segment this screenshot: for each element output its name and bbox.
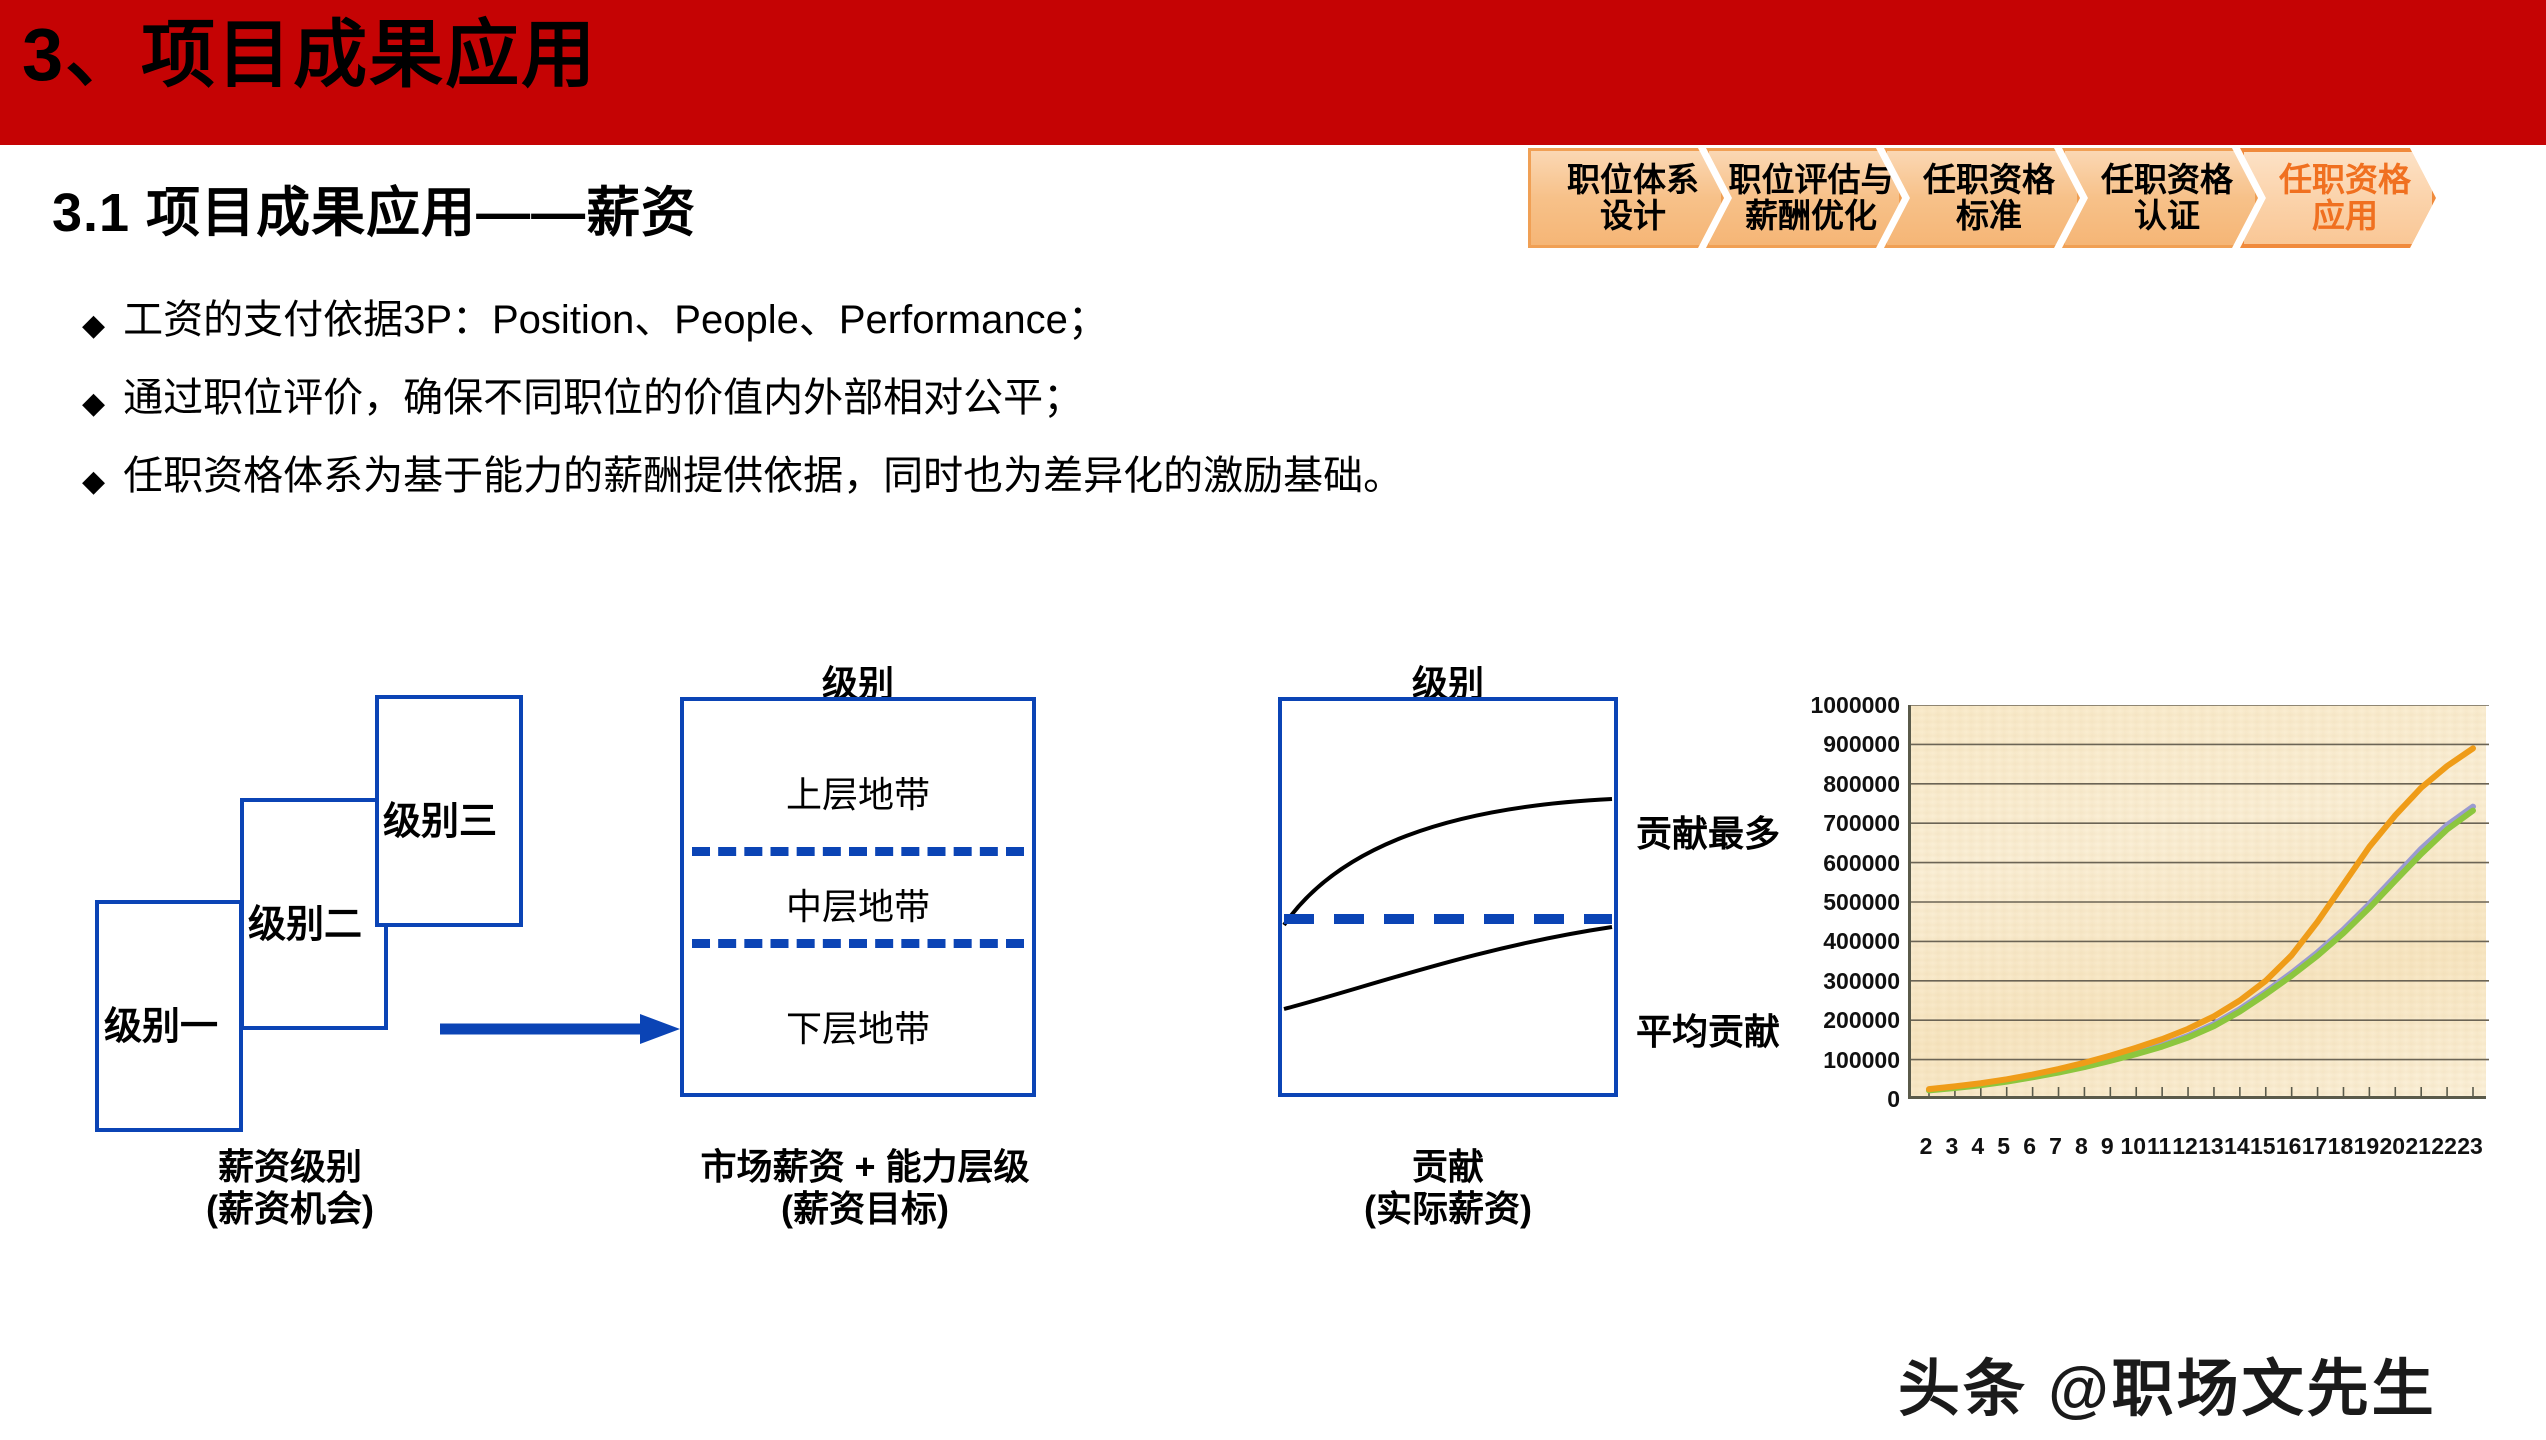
bullet-item-3: ◆ 任职资格体系为基于能力的薪酬提供依据，同时也为差异化的激励基础。 — [82, 456, 1403, 497]
section-subtitle: 3.1 项目成果应用——薪资 — [52, 168, 696, 247]
chart-y-tick-label: 800000 — [1790, 773, 1900, 796]
bullet-text: 通过职位评价，确保不同职位的价值内外部相对公平； — [123, 378, 1083, 418]
diagram1-caption: 薪资级别 (薪资机会) — [140, 1146, 440, 1231]
growth-chart: 0100000200000300000400000500000600000700… — [1790, 705, 2530, 1245]
bullet-text: 任职资格体系为基于能力的薪酬提供依据，同时也为差异化的激励基础。 — [123, 456, 1403, 496]
curve-label-average: 平均贡献 — [1636, 1003, 1780, 1055]
flow-arrow-icon — [440, 1012, 680, 1046]
salary-grade-label-2: 级别二 — [248, 893, 362, 948]
chart-y-tick-label: 500000 — [1790, 891, 1900, 914]
diagram2-caption: 市场薪资 + 能力层级 (薪资目标) — [700, 1146, 1030, 1231]
chart-y-tick-label: 900000 — [1790, 733, 1900, 756]
chart-y-tick-label: 0 — [1790, 1088, 1900, 1111]
chart-y-tick-label: 200000 — [1790, 1009, 1900, 1032]
bullet-text: 工资的支付依据3P：Position、People、Performance； — [123, 300, 1108, 340]
watermark: 头条 @职场文先生 — [1898, 1338, 2437, 1428]
salary-grade-label-1: 级别一 — [104, 995, 218, 1050]
breadcrumb-step-label: 职位评估与 薪酬优化 — [1715, 162, 1894, 233]
chart-line-series-orange — [1929, 748, 2473, 1089]
breadcrumb-step-5-active[interactable]: 任职资格 应用 — [2240, 148, 2436, 248]
bullet-item-2: ◆ 通过职位评价，确保不同职位的价值内外部相对公平； — [82, 378, 1083, 419]
chart-y-tick-label: 1000000 — [1790, 694, 1900, 717]
breadcrumb-step-4[interactable]: 任职资格 认证 — [2062, 148, 2258, 248]
zone-label-upper: 上层地带 — [680, 766, 1036, 818]
chart-line-series-green — [1929, 811, 2473, 1091]
breadcrumb-step-label: 任职资格 应用 — [2265, 162, 2411, 233]
bullet-item-1: ◆ 工资的支付依据3P：Position、People、Performance； — [82, 300, 1108, 341]
curve-label-top: 贡献最多 — [1636, 805, 1780, 857]
zone-divider-upper — [692, 847, 1024, 856]
chart-line-series-purple — [1929, 807, 2473, 1090]
chart-y-tick-label: 300000 — [1790, 970, 1900, 993]
diamond-bullet-icon: ◆ — [82, 467, 105, 497]
zone-label-middle: 中层地带 — [680, 878, 1036, 930]
contribution-curves — [1278, 697, 1618, 1097]
chart-series-svg — [1911, 705, 2489, 1099]
zone-divider-lower — [692, 939, 1024, 948]
chart-plot-area — [1908, 705, 2486, 1099]
breadcrumb-step-label: 任职资格 标准 — [1909, 162, 2055, 233]
chart-y-tick-label: 700000 — [1790, 812, 1900, 835]
chart-x-tick-label: 23 — [2450, 1135, 2490, 1158]
chart-y-tick-label: 600000 — [1790, 852, 1900, 875]
zone-label-lower: 下层地带 — [680, 1000, 1036, 1052]
salary-grade-label-3: 级别三 — [383, 790, 497, 845]
contribution-box — [1278, 697, 1618, 1097]
page-title: 3、项目成果应用 — [22, 18, 597, 92]
breadcrumb: 职位体系 设计 职位评估与 薪酬优化 任职资格 标准 任职资格 认证 任职资格 … — [1528, 148, 2418, 248]
diamond-bullet-icon: ◆ — [82, 389, 105, 419]
chart-y-tick-label: 100000 — [1790, 1049, 1900, 1072]
diagram3-caption: 贡献 (实际薪资) — [1288, 1146, 1608, 1231]
breadcrumb-step-label: 任职资格 认证 — [2087, 162, 2233, 233]
breadcrumb-step-2[interactable]: 职位评估与 薪酬优化 — [1706, 148, 1902, 248]
chart-y-tick-label: 400000 — [1790, 930, 1900, 953]
breadcrumb-step-1[interactable]: 职位体系 设计 — [1528, 148, 1724, 248]
breadcrumb-step-3[interactable]: 任职资格 标准 — [1884, 148, 2080, 248]
diamond-bullet-icon: ◆ — [82, 311, 105, 341]
breadcrumb-step-label: 职位体系 设计 — [1553, 162, 1699, 233]
